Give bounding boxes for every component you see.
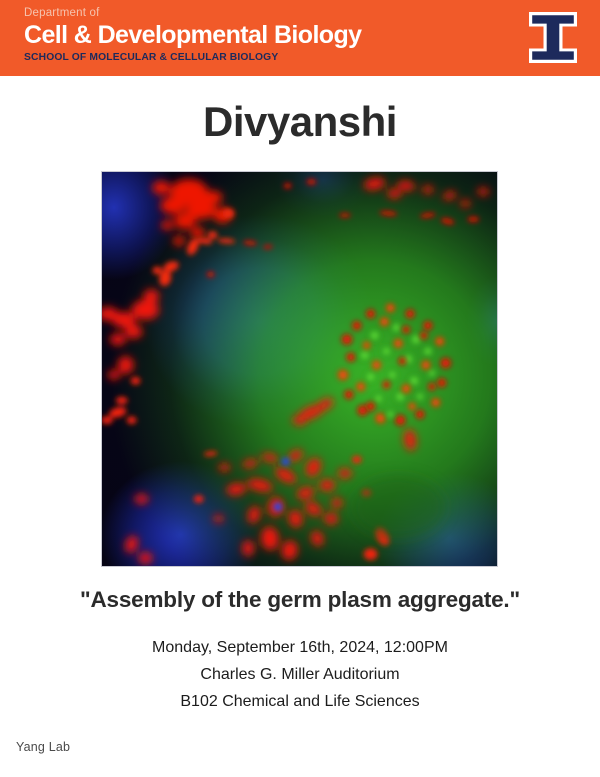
talk-details: Monday, September 16th, 2024, 12:00PM Ch… — [0, 634, 600, 715]
school-name: SCHOOL OF MOLECULAR & CELLULAR BIOLOGY — [24, 51, 494, 65]
department-eyebrow: Department of — [24, 6, 494, 21]
talk-title: "Assembly of the germ plasm aggregate." — [0, 586, 600, 614]
micrograph-figure — [101, 171, 498, 567]
seminar-flyer-page: Department of Cell & Developmental Biolo… — [0, 0, 600, 777]
department-header-band: Department of Cell & Developmental Biolo… — [0, 0, 600, 76]
micrograph-red-channel-overlay — [102, 172, 497, 566]
lab-credit: Yang Lab — [16, 740, 70, 754]
talk-building: B102 Chemical and Life Sciences — [0, 688, 600, 715]
speaker-name: Divyanshi — [0, 98, 600, 146]
talk-datetime: Monday, September 16th, 2024, 12:00PM — [0, 634, 600, 661]
illinois-block-i-logo — [523, 9, 583, 66]
header-text-block: Department of Cell & Developmental Biolo… — [24, 6, 494, 65]
department-name: Cell & Developmental Biology — [24, 22, 494, 49]
talk-venue: Charles G. Miller Auditorium — [0, 661, 600, 688]
